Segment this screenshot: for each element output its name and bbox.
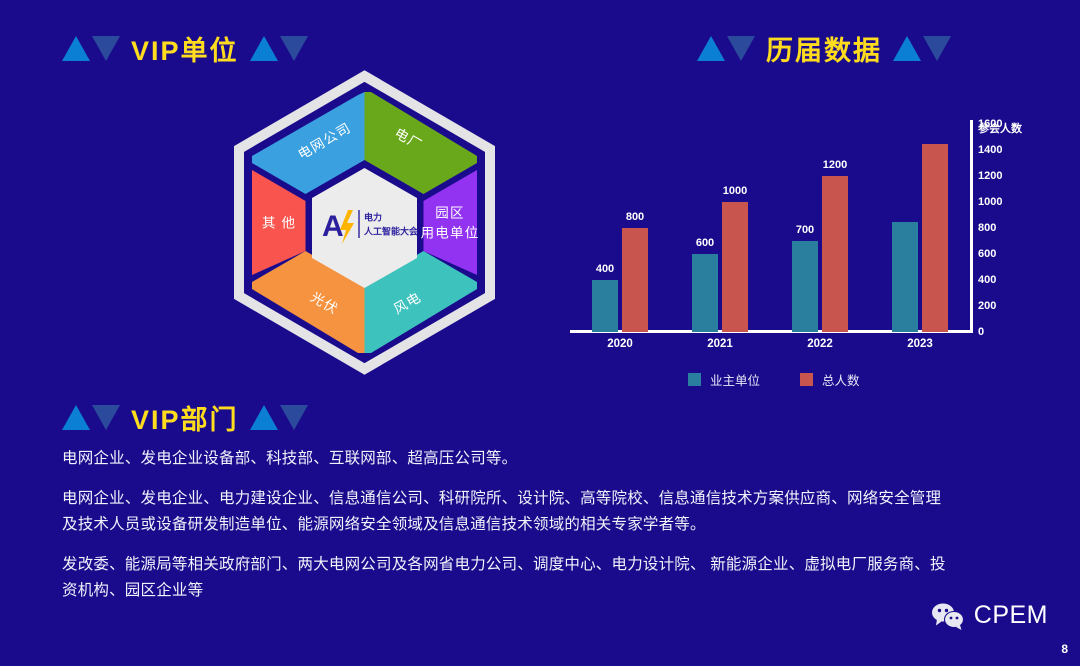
triangle-up-icon [893,36,921,61]
paragraph: 电网企业、发电企业设备部、科技部、互联网部、超高压公司等。 [62,446,952,472]
legend-swatch [688,373,701,386]
chart-y-tick: 1400 [978,144,1002,156]
chart-plot-area: 40080060010007001200 [570,124,970,332]
chart-y-tick: 800 [978,222,996,234]
triangle-decoration-left [697,36,755,61]
triangle-decoration-right [250,405,308,430]
chart-bar-total[interactable]: 1200 [822,176,848,332]
triangle-up-icon [250,36,278,61]
vip-department-title-text: VIP部门 [131,398,239,437]
page-number: 8 [1061,642,1068,656]
triangle-down-icon [923,36,951,61]
svg-text:园区: 园区 [435,206,464,221]
chart-bar-group: 400800 [592,228,648,332]
chart-bar-group: 6001000 [692,202,748,332]
chart-bar-value-label: 600 [696,237,714,249]
triangle-decoration-right [250,36,308,61]
chart-x-tick: 2020 [607,338,633,350]
triangle-down-icon [727,36,755,61]
triangle-up-icon [697,36,725,61]
legend-item[interactable]: 业主单位 [688,370,760,389]
triangle-down-icon [92,405,120,430]
vip-unit-section-title: VIP单位 [62,29,308,68]
chart-bar-owner[interactable]: 400 [592,280,618,332]
legend-label: 总人数 [822,370,860,389]
chart-bar-total[interactable]: 1000 [722,202,748,332]
chart-bar-value-label: 1200 [823,159,847,171]
chart-bar-total[interactable] [922,144,948,333]
chart-bar-total[interactable]: 800 [622,228,648,332]
attendance-bar-chart: 参会人数 40080060010007001200 16001400120010… [560,112,1030,402]
triangle-decoration-left [62,36,120,61]
chart-y-tick: 1200 [978,170,1002,182]
chart-bar-value-label: 700 [796,224,814,236]
legend-item[interactable]: 总人数 [800,370,860,389]
chart-y-tick: 1000 [978,196,1002,208]
chart-y-axis [970,120,973,332]
brand-name: CPEM [974,601,1048,630]
triangle-decoration-right [893,36,951,61]
svg-text:用电单位: 用电单位 [421,226,480,241]
chart-y-tick: 600 [978,248,996,260]
chart-y-tick: 200 [978,300,996,312]
chart-y-tick: 400 [978,274,996,286]
triangle-up-icon [250,405,278,430]
triangle-up-icon [62,36,90,61]
chart-x-tick: 2022 [807,338,833,350]
chart-bar-owner[interactable]: 700 [792,241,818,332]
chart-bar-owner[interactable]: 600 [692,254,718,332]
triangle-decoration-left [62,405,120,430]
chart-x-tick: 2023 [907,338,933,350]
chart-bar-group [892,144,948,333]
legend-label: 业主单位 [710,370,760,389]
logo-letter-a: A [322,210,344,243]
triangle-down-icon [92,36,120,61]
chart-x-tick: 2021 [707,338,733,350]
chart-bar-group: 7001200 [792,176,848,332]
chart-legend: 业主单位总人数 [688,370,860,389]
history-data-title-text: 历届数据 [766,29,882,68]
chart-bar-owner[interactable] [892,222,918,333]
paragraph: 电网企业、发电企业、电力建设企业、信息通信公司、科研院所、设计院、高等院校、信息… [62,486,952,538]
vip-unit-title-text: VIP单位 [131,29,239,68]
chart-y-tick: 0 [978,326,984,338]
vip-department-section-title: VIP部门 [62,398,308,437]
chart-bar-value-label: 1000 [723,185,747,197]
hex-label-other: 其 他 [262,216,296,231]
hexagon-wheel-diagram: 电网公司 电厂 园区 用电单位 风电 光伏 其 他 A 电力 人工智能大会 [212,70,517,375]
chart-bar-value-label: 400 [596,263,614,275]
logo-line-1: 电力 [364,211,382,222]
history-data-section-title: 历届数据 [697,29,951,68]
chart-bar-value-label: 800 [626,211,644,223]
paragraph: 发改委、能源局等相关政府部门、两大电网公司及各网省电力公司、调度中心、电力设计院… [62,552,952,604]
logo-line-2: 人工智能大会 [363,225,419,236]
legend-swatch [800,373,813,386]
triangle-down-icon [280,36,308,61]
vip-department-body: 电网企业、发电企业设备部、科技部、互联网部、超高压公司等。 电网企业、发电企业、… [62,446,952,618]
chart-y-tick: 1600 [978,118,1002,130]
footer-brand: CPEM [931,601,1048,630]
triangle-up-icon [62,405,90,430]
triangle-down-icon [280,405,308,430]
wechat-icon [931,602,965,630]
